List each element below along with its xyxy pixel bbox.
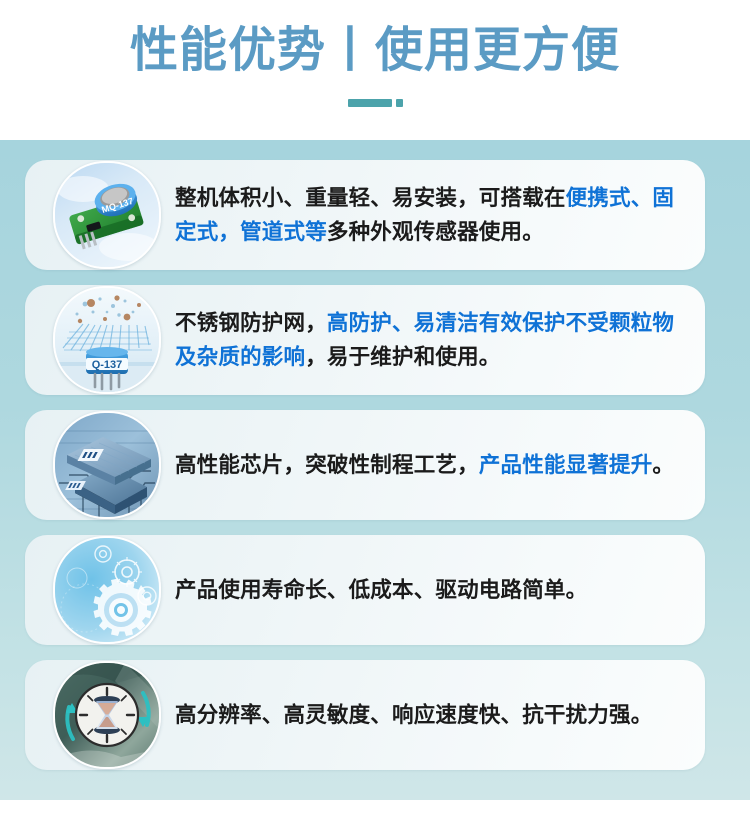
- page-footer-spacer: [0, 800, 750, 835]
- gears-icon: [53, 536, 161, 644]
- feature-text-highlight: 产品性能显著提升: [479, 453, 653, 477]
- gas-sensor-module-icon: MQ-137: [53, 161, 161, 269]
- feature-card[interactable]: 产品使用寿命长、低成本、驱动电路简单。: [25, 535, 705, 645]
- feature-text-plain: 不锈钢防护网，: [175, 311, 327, 335]
- stainless-steel-mesh-sensor-icon: Q-137: [53, 286, 161, 394]
- feature-text-plain: 高性能芯片，突破性制程工艺，: [175, 453, 479, 477]
- divider-dot: [396, 99, 403, 107]
- feature-text: 高性能芯片，突破性制程工艺，产品性能显著提升。: [175, 448, 674, 482]
- divider-bar: [348, 99, 392, 107]
- feature-highlights-page: 性能优势丨使用更方便: [0, 0, 750, 835]
- feature-text-plain: 整机体积小、重量轻、易安装，可搭载在: [175, 186, 566, 210]
- page-title: 性能优势丨使用更方便: [0, 22, 750, 80]
- high-performance-chip-icon: [53, 411, 161, 519]
- feature-text-plain: 。: [652, 453, 674, 477]
- feature-card-list: MQ-137 整机体积小、重量轻、易安装，可搭载在便携式、固定式，管道式等多种外…: [25, 160, 725, 785]
- hourglass-clock-icon: [53, 661, 161, 769]
- page-header: 性能优势丨使用更方便: [0, 0, 750, 140]
- feature-text-plain: 高分辨率、高灵敏度、响应速度快、抗干扰力强。: [175, 703, 652, 727]
- title-divider: [0, 98, 750, 108]
- feature-text: 高分辨率、高灵敏度、响应速度快、抗干扰力强。: [175, 698, 652, 732]
- feature-text: 不锈钢防护网，高防护、易清洁有效保护不受颗粒物及杂质的影响，易于维护和使用。: [175, 306, 681, 374]
- feature-card[interactable]: 高分辨率、高灵敏度、响应速度快、抗干扰力强。: [25, 660, 705, 770]
- feature-card[interactable]: 高性能芯片，突破性制程工艺，产品性能显著提升。: [25, 410, 705, 520]
- svg-text:Q-137: Q-137: [92, 359, 123, 371]
- feature-card[interactable]: Q-137 不锈钢防护网，高防护、易清洁有效保护不受颗粒物及杂质的影响，易于维护…: [25, 285, 705, 395]
- feature-card[interactable]: MQ-137 整机体积小、重量轻、易安装，可搭载在便携式、固定式，管道式等多种外…: [25, 160, 705, 270]
- feature-text-plain: 产品使用寿命长、低成本、驱动电路简单。: [175, 578, 587, 602]
- feature-text: 产品使用寿命长、低成本、驱动电路简单。: [175, 573, 587, 607]
- feature-text: 整机体积小、重量轻、易安装，可搭载在便携式、固定式，管道式等多种外观传感器使用。: [175, 181, 681, 249]
- feature-text-plain: ，易于维护和使用。: [305, 345, 500, 369]
- feature-text-plain: 多种外观传感器使用。: [327, 220, 544, 244]
